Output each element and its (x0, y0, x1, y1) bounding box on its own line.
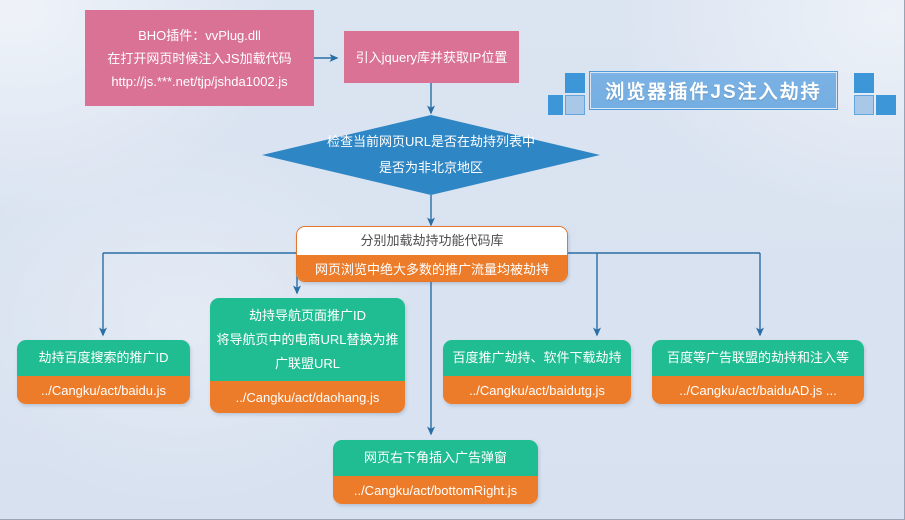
decision-line-2: 是否为非北京地区 (379, 155, 483, 181)
leaf-baiduad-title: 百度等广告联盟的劫持和注入等 (652, 340, 864, 376)
leaf-baidutg-file: ../Cangku/act/baidutg.js (443, 376, 631, 404)
loader-title: 分别加载劫持功能代码库 (297, 227, 567, 255)
leaf-daohang-title: 劫持导航页面推广ID 将导航页中的电商URL替换为推 广联盟URL (210, 298, 405, 381)
diagram-canvas: BHO插件：vvPlug.dll 在打开网页时候注入JS加载代码 http://… (0, 0, 905, 520)
node-decision: 检查当前网页URL是否在劫持列表中 是否为非北京地区 (262, 115, 600, 195)
leaf-baidu-title: 劫持百度搜索的推广ID (17, 340, 190, 376)
decision-line-1: 检查当前网页URL是否在劫持列表中 (327, 129, 535, 155)
page-title-banner: 浏览器插件JS注入劫持 (590, 72, 837, 109)
leaf-baiduad-file: ../Cangku/act/baiduAD.js ... (652, 376, 864, 404)
bho-line-3: http://js.***.net/tjp/jshda1002.js (111, 70, 287, 93)
node-leaf-baiduad: 百度等广告联盟的劫持和注入等 ../Cangku/act/baiduAD.js … (652, 340, 864, 404)
leaf-daohang-line-2: 将导航页中的电商URL替换为推 (216, 328, 398, 352)
leaf-daohang-file: ../Cangku/act/daohang.js (210, 381, 405, 413)
jquery-label: 引入jquery库并获取IP位置 (356, 46, 508, 69)
deco-square-dark-b (548, 95, 563, 115)
leaf-bottomright-title: 网页右下角插入广告弹窗 (333, 440, 538, 476)
deco-square-light-b (854, 95, 874, 115)
node-leaf-daohang: 劫持导航页面推广ID 将导航页中的电商URL替换为推 广联盟URL ../Can… (210, 298, 405, 413)
node-leaf-bottomright: 网页右下角插入广告弹窗 ../Cangku/act/bottomRight.js (333, 440, 538, 504)
leaf-baidutg-line-1: 百度推广劫持、软件下载劫持 (452, 346, 621, 370)
deco-square-light-a (565, 95, 585, 115)
leaf-baidu-file: ../Cangku/act/baidu.js (17, 376, 190, 404)
page-title: 浏览器插件JS注入劫持 (605, 77, 821, 104)
deco-square-dark-d (876, 95, 896, 115)
deco-square-dark-c (854, 73, 874, 93)
bho-line-1: BHO插件：vvPlug.dll (138, 24, 261, 47)
node-jquery-ip: 引入jquery库并获取IP位置 (344, 31, 519, 83)
bho-line-2: 在打开网页时候注入JS加载代码 (107, 47, 291, 70)
leaf-bottomright-file: ../Cangku/act/bottomRight.js (333, 476, 538, 504)
node-leaf-baidu: 劫持百度搜索的推广ID ../Cangku/act/baidu.js (17, 340, 190, 404)
leaf-bottomright-line-1: 网页右下角插入广告弹窗 (364, 446, 507, 470)
leaf-baidu-line-1: 劫持百度搜索的推广ID (38, 346, 168, 370)
leaf-daohang-line-3: 广联盟URL (275, 352, 340, 376)
node-bho-plugin: BHO插件：vvPlug.dll 在打开网页时候注入JS加载代码 http://… (85, 10, 314, 106)
deco-square-dark-a (565, 73, 585, 93)
node-loader: 分别加载劫持功能代码库 网页浏览中绝大多数的推广流量均被劫持 (296, 226, 568, 282)
leaf-daohang-line-1: 劫持导航页面推广ID (249, 304, 366, 328)
banner-decoration-right (843, 73, 891, 115)
banner-decoration-left (548, 73, 588, 115)
leaf-baiduad-line-1: 百度等广告联盟的劫持和注入等 (667, 346, 849, 370)
loader-note: 网页浏览中绝大多数的推广流量均被劫持 (297, 255, 567, 281)
leaf-baidutg-title: 百度推广劫持、软件下载劫持 (443, 340, 631, 376)
node-leaf-baidutg: 百度推广劫持、软件下载劫持 ../Cangku/act/baidutg.js (443, 340, 631, 404)
